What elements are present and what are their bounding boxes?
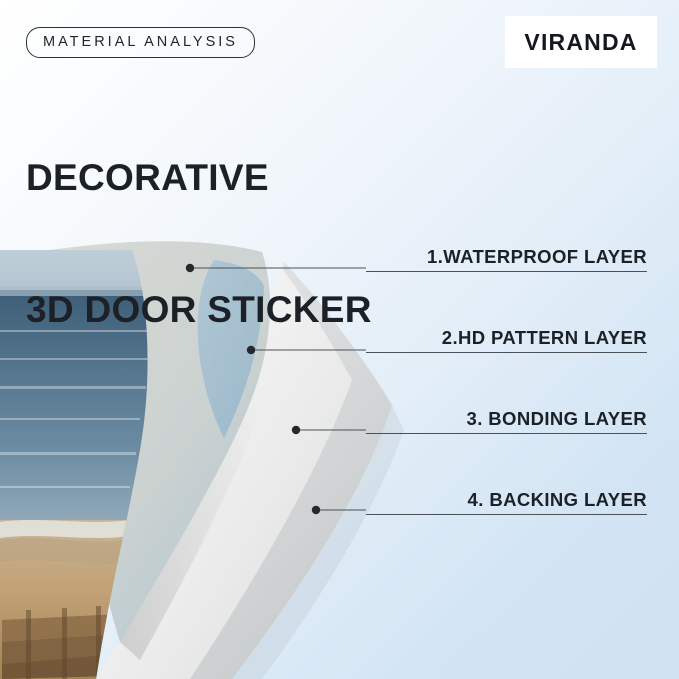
eyebrow-label: MATERIAL ANALYSIS	[43, 34, 238, 50]
callout-backing-layer: 4. BACKING LAYER	[366, 481, 647, 515]
callout-bonding-layer: 3. BONDING LAYER	[366, 400, 647, 434]
callout-label-4: 4. BACKING LAYER	[468, 489, 647, 514]
brand-name: VIRANDA	[524, 29, 637, 56]
page-title-line-2: 3D DOOR STICKER	[26, 288, 372, 332]
brand-logo-box: VIRANDA	[505, 16, 657, 68]
eyebrow-badge: MATERIAL ANALYSIS	[26, 27, 255, 58]
callout-waterproof-layer: 1.WATERPROOF LAYER	[366, 238, 647, 272]
page-title: DECORATIVE 3D DOOR STICKER	[26, 68, 372, 420]
callout-label-1: 1.WATERPROOF LAYER	[427, 246, 647, 271]
callout-label-3: 3. BONDING LAYER	[467, 408, 647, 433]
callout-label-2: 2.HD PATTERN LAYER	[442, 327, 647, 352]
page-title-line-1: DECORATIVE	[26, 156, 372, 200]
poster-canvas: MATERIAL ANALYSIS DECORATIVE 3D DOOR STI…	[0, 0, 679, 679]
callout-hd-pattern-layer: 2.HD PATTERN LAYER	[366, 319, 647, 353]
